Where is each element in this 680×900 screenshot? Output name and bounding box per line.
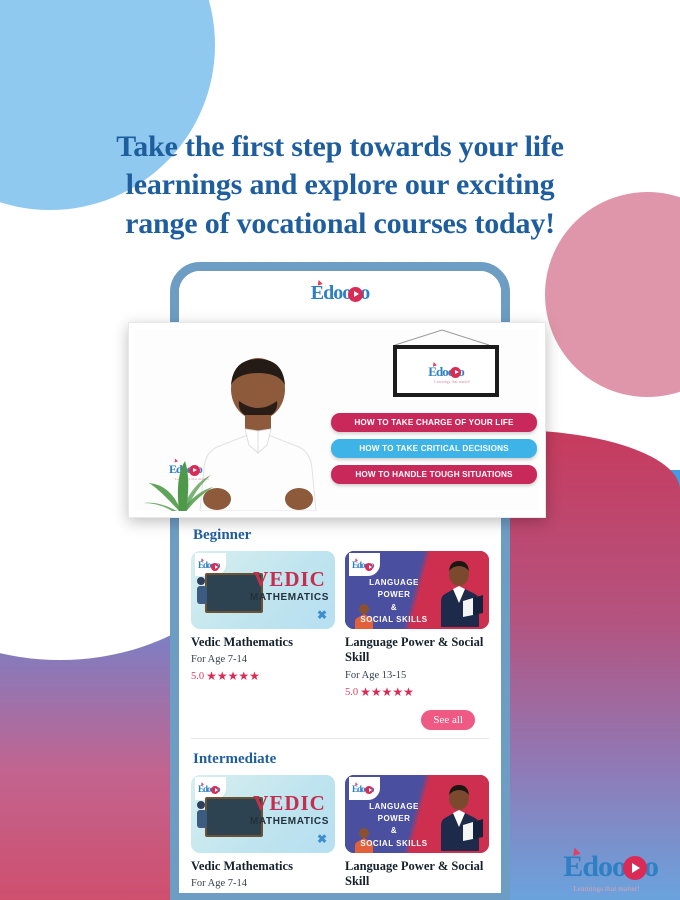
thumb-title-group: LANGUAGE POWER&SOCIAL SKILLS xyxy=(353,577,435,627)
course-title: Language Power & Social Skill xyxy=(345,635,489,666)
course-card[interactable]: ▲EdoooVEDICMATHEMATICS✖Vedic Mathematics… xyxy=(191,775,335,894)
thumb-logo: ▲Edooo xyxy=(349,777,380,800)
course-thumbnail[interactable]: ▲EdoooVEDICMATHEMATICS✖ xyxy=(191,551,335,629)
thumb-subtitle: SOCIAL SKILLS xyxy=(353,614,435,626)
thumb-amp: & xyxy=(353,602,435,614)
thumb-subtitle: SOCIAL SKILLS xyxy=(353,838,435,850)
course-thumbnail[interactable]: ▲EdoooLANGUAGE POWER&SOCIAL SKILLS xyxy=(345,775,489,853)
promo-screenshot: Take the first step towards your life le… xyxy=(0,0,680,900)
footer-brand-logo: ▲ E doo o Learnings that matter! xyxy=(563,852,658,882)
course-age: For Age 7-14 xyxy=(191,654,335,665)
course-card[interactable]: ▲EdoooVEDICMATHEMATICS✖Vedic Mathematics… xyxy=(191,551,335,700)
app-logo-text-mid: doo xyxy=(323,283,351,303)
thumb-title: VEDIC xyxy=(250,793,329,814)
course-age: For Age 13-15 xyxy=(345,670,489,681)
rating-stars: ★★★★★ xyxy=(360,685,414,700)
headline-line-2: learnings and explore our exciting xyxy=(52,166,628,204)
section-title: Beginner xyxy=(193,527,489,544)
play-icon xyxy=(211,563,219,571)
plant-illustration xyxy=(141,425,217,511)
thumb-subtitle: MATHEMATICS xyxy=(250,592,329,603)
app-header: ▲ E doo o xyxy=(179,271,501,315)
headline-line-1: Take the first step towards your life xyxy=(52,128,628,166)
course-title: Vedic Mathematics xyxy=(191,859,335,874)
card-brand-logo: ▲Edooo xyxy=(352,785,374,794)
promo-video-card[interactable]: ▲ E doo o Learnings that matter! xyxy=(128,322,546,518)
framed-logo-tagline: Learnings that matter! xyxy=(434,381,470,385)
card-brand-logo: ▲Edooo xyxy=(198,561,220,570)
section-title: Intermediate xyxy=(193,751,489,768)
promo-video-content: ▲ E doo o Learnings that matter! xyxy=(135,329,539,511)
play-icon xyxy=(365,563,373,571)
card-brand-logo: ▲Edooo xyxy=(198,785,220,794)
promo-bar-1[interactable]: HOW TO TAKE CRITICAL DECISIONS xyxy=(331,439,537,458)
play-icon xyxy=(211,786,219,794)
sparkle-icon: ✖ xyxy=(317,608,327,623)
sparkle-icon: ✖ xyxy=(317,832,327,847)
course-title: Vedic Mathematics xyxy=(191,635,335,650)
rating-value: 5.0 xyxy=(191,671,204,682)
teacher-icon xyxy=(197,577,207,607)
headline-line-3: range of vocational courses today! xyxy=(52,205,628,243)
course-card[interactable]: ▲EdoooLANGUAGE POWER&SOCIAL SKILLSLangua… xyxy=(345,551,489,700)
framed-brand-sign: ▲ E doo o Learnings that matter! xyxy=(393,345,499,397)
course-age: For Age 7-14 xyxy=(191,878,335,889)
graduation-cap-icon: ▲ xyxy=(430,360,439,369)
course-sections: Beginner▲EdoooVEDICMATHEMATICS✖Vedic Mat… xyxy=(179,515,501,893)
thumb-title-group: VEDICMATHEMATICS xyxy=(250,793,329,827)
speaker-illustration xyxy=(439,785,483,851)
course-section: Beginner▲EdoooVEDICMATHEMATICS✖Vedic Mat… xyxy=(179,515,501,739)
course-thumbnail[interactable]: ▲EdoooLANGUAGE POWER&SOCIAL SKILLS xyxy=(345,551,489,629)
promo-bar-0[interactable]: HOW TO TAKE CHARGE OF YOUR LIFE xyxy=(331,413,537,432)
graduation-cap-icon: ▲ xyxy=(199,781,205,787)
play-icon xyxy=(348,287,363,302)
course-section: Intermediate▲EdoooVEDICMATHEMATICS✖Vedic… xyxy=(179,739,501,894)
see-all-row: See all xyxy=(191,700,489,736)
thumb-title: LANGUAGE POWER xyxy=(353,801,435,826)
thumb-title-group: LANGUAGE POWER&SOCIAL SKILLS xyxy=(353,801,435,851)
thumb-title: LANGUAGE POWER xyxy=(353,577,435,602)
course-card[interactable]: ▲EdoooLANGUAGE POWER&SOCIAL SKILLSLangua… xyxy=(345,775,489,894)
app-logo: ▲ E doo o xyxy=(311,283,369,303)
card-brand-logo: ▲Edooo xyxy=(352,561,374,570)
page-title: Take the first step towards your life le… xyxy=(0,128,680,243)
course-rating: 5.0★★★★★ xyxy=(191,669,335,684)
footer-logo-tagline: Learnings that matter! xyxy=(573,886,640,893)
course-rating: 5.0★★★★★ xyxy=(345,685,489,700)
play-icon xyxy=(450,367,461,378)
course-card-list: ▲EdoooVEDICMATHEMATICS✖Vedic Mathematics… xyxy=(191,775,489,894)
course-thumbnail[interactable]: ▲EdoooVEDICMATHEMATICS✖ xyxy=(191,775,335,853)
rating-stars: ★★★★★ xyxy=(206,669,260,684)
thumb-subtitle: MATHEMATICS xyxy=(250,816,329,827)
play-icon xyxy=(623,856,647,880)
thumb-title: VEDIC xyxy=(250,569,329,590)
course-title: Language Power & Social Skill xyxy=(345,859,489,890)
rating-value: 5.0 xyxy=(345,687,358,698)
course-card-list: ▲EdoooVEDICMATHEMATICS✖Vedic Mathematics… xyxy=(191,551,489,700)
teacher-icon xyxy=(197,801,207,831)
play-icon xyxy=(365,786,373,794)
framed-logo: ▲ E doo o Learnings that matter! xyxy=(428,365,463,378)
thumb-logo: ▲Edooo xyxy=(349,553,380,576)
footer-logo-mid: doo xyxy=(582,852,626,882)
promo-bar-2[interactable]: HOW TO HANDLE TOUGH SITUATIONS xyxy=(331,465,537,484)
thumb-amp: & xyxy=(353,825,435,837)
hanging-wire-icon xyxy=(393,329,491,346)
promo-bullet-list: HOW TO TAKE CHARGE OF YOUR LIFE HOW TO T… xyxy=(331,413,537,491)
thumb-title-group: VEDICMATHEMATICS xyxy=(250,569,329,603)
speaker-illustration xyxy=(439,561,483,627)
see-all-button[interactable]: See all xyxy=(421,710,475,730)
graduation-cap-icon: ▲ xyxy=(353,781,359,787)
